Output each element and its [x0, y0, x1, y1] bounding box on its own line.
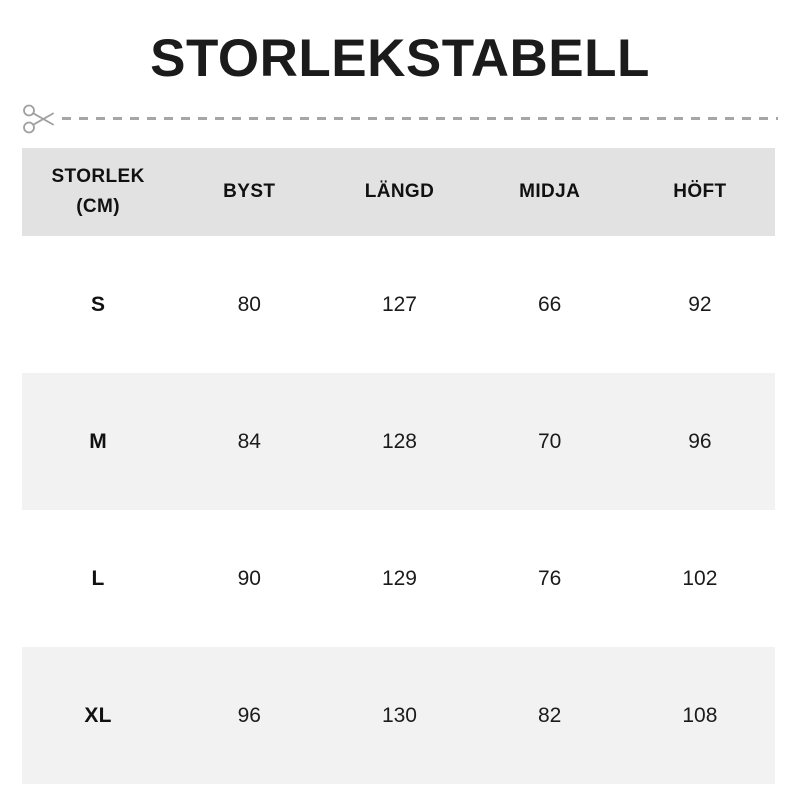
table-row: XL 96 130 82 108	[22, 647, 775, 784]
table-row: M 84 128 70 96	[22, 373, 775, 510]
scissors-icon	[22, 103, 56, 135]
column-header-storlek: STORLEK (CM)	[22, 148, 174, 236]
cell-byst: 90	[174, 510, 324, 647]
cell-langd: 130	[324, 647, 474, 784]
cut-line	[22, 103, 778, 135]
column-header-midja: MIDJA	[475, 148, 625, 236]
cell-midja: 70	[475, 373, 625, 510]
column-header-hoft: HÖFT	[625, 148, 775, 236]
cell-hoft: 96	[625, 373, 775, 510]
cell-byst: 80	[174, 236, 324, 373]
size-chart-table: STORLEK (CM) BYST LÄNGD MIDJA HÖFT S	[22, 148, 775, 784]
column-header-langd-label: LÄNGD	[324, 177, 474, 207]
cell-hoft: 92	[625, 236, 775, 373]
cell-size: M	[22, 373, 174, 510]
cell-langd: 127	[324, 236, 474, 373]
column-header-byst: BYST	[174, 148, 324, 236]
cell-midja: 82	[475, 647, 625, 784]
cell-size: L	[22, 510, 174, 647]
dashed-cut-line	[62, 117, 778, 120]
column-header-byst-label: BYST	[174, 177, 324, 207]
cell-size: XL	[22, 647, 174, 784]
cell-size: S	[22, 236, 174, 373]
column-header-storlek-line1: STORLEK	[22, 162, 174, 192]
column-header-langd: LÄNGD	[324, 148, 474, 236]
size-chart-page: STORLEKSTABELL STORLEK (CM)	[0, 0, 800, 800]
cell-midja: 76	[475, 510, 625, 647]
table-row: L 90 129 76 102	[22, 510, 775, 647]
column-header-hoft-label: HÖFT	[625, 177, 775, 207]
column-header-storlek-line2: (CM)	[22, 192, 174, 222]
cell-hoft: 108	[625, 647, 775, 784]
cell-hoft: 102	[625, 510, 775, 647]
table-row: S 80 127 66 92	[22, 236, 775, 373]
cell-langd: 129	[324, 510, 474, 647]
page-title: STORLEKSTABELL	[0, 32, 800, 85]
table-header-row: STORLEK (CM) BYST LÄNGD MIDJA HÖFT	[22, 148, 775, 236]
column-header-midja-label: MIDJA	[475, 177, 625, 207]
cell-langd: 128	[324, 373, 474, 510]
cell-midja: 66	[475, 236, 625, 373]
cell-byst: 84	[174, 373, 324, 510]
cell-byst: 96	[174, 647, 324, 784]
